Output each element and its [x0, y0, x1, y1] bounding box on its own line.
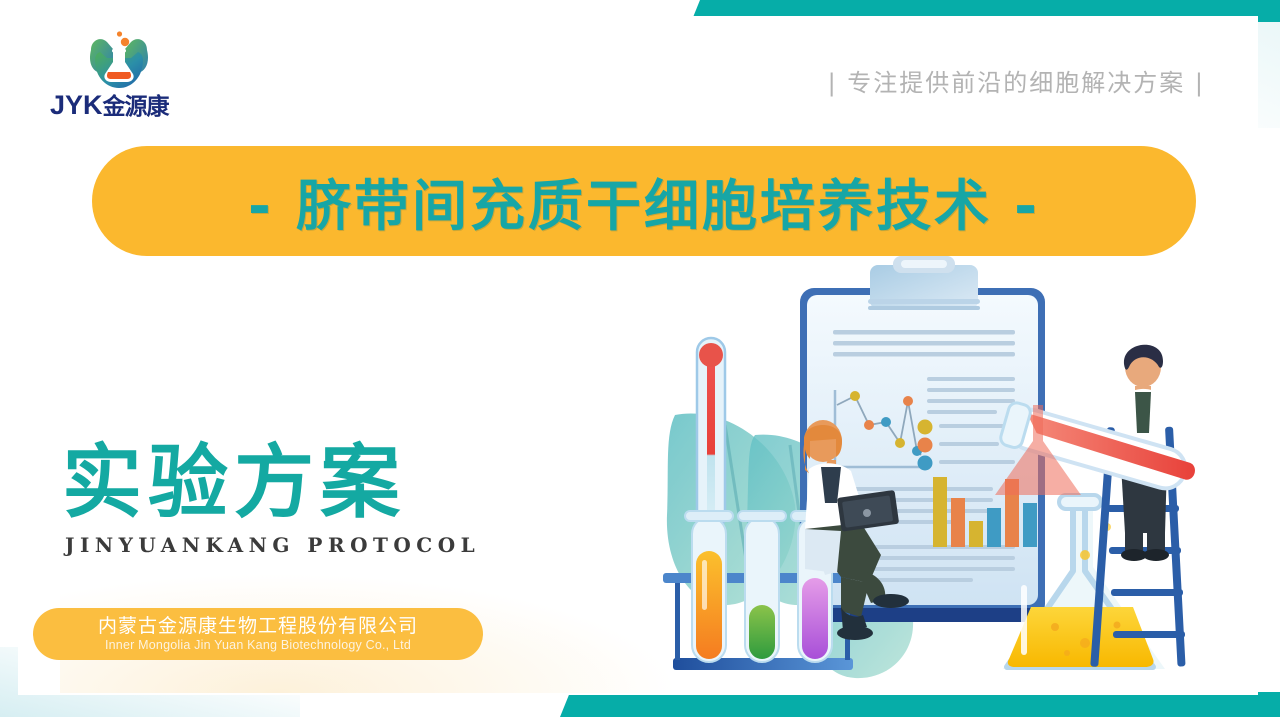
- laboratory-research-illustration: [655, 255, 1200, 680]
- logo-text-cn: 金源康: [103, 93, 169, 119]
- bottom-band-decoration: [560, 692, 1280, 717]
- brand-logo[interactable]: JYK金源康: [50, 30, 230, 122]
- logo-text-en: JYK: [50, 90, 103, 120]
- company-name-en: Inner Mongolia Jin Yuan Kang Biotechnolo…: [105, 637, 411, 653]
- logo-wordmark: JYK金源康: [50, 90, 230, 121]
- flask-logo-icon: [83, 30, 155, 92]
- thermometer: [697, 338, 725, 530]
- company-badge: 内蒙古金源康生物工程股份有限公司 Inner Mongolia Jin Yuan…: [33, 608, 483, 660]
- page-title: - 脐带间充质干细胞培养技术 -: [248, 161, 1040, 241]
- company-name-cn: 内蒙古金源康生物工程股份有限公司: [98, 615, 418, 637]
- slide-root: JYK金源康 | 专注提供前沿的细胞解决方案 | - 脐带间充质干细胞培养技术 …: [0, 0, 1280, 717]
- section-heading-cn: 实验方案: [62, 440, 406, 526]
- header-tagline: | 专注提供前沿的细胞解决方案 |: [828, 63, 1205, 98]
- section-heading-en: JINYUANKANG PROTOCOL: [65, 533, 480, 557]
- title-banner: - 脐带间充质干细胞培养技术 -: [92, 146, 1196, 256]
